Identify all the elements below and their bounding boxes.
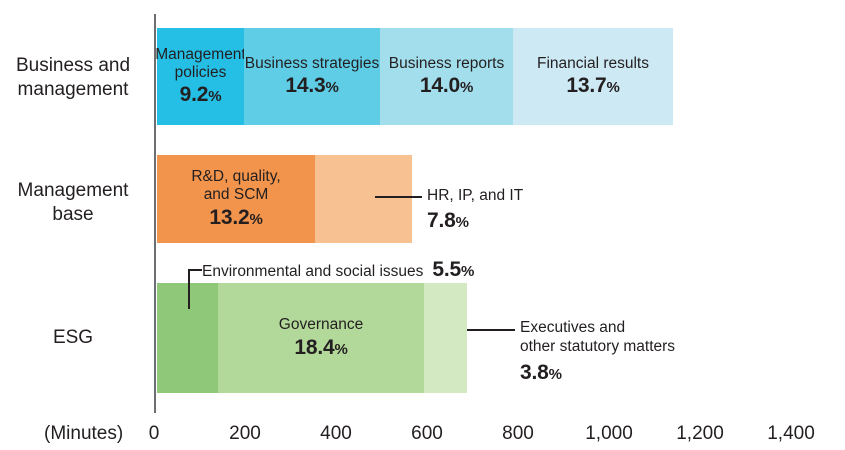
- bar-segment-value: 14.3%: [285, 74, 338, 98]
- bar-segment-value: 14.0%: [420, 74, 473, 98]
- bar-segment-label-line2: and SCM: [204, 186, 269, 203]
- category-label-line1: Business and: [0, 54, 146, 78]
- bar-segment-label: Governance: [276, 316, 366, 334]
- bar-segment-value: 13.7%: [566, 74, 619, 98]
- category-label-management-base: Management base: [0, 179, 146, 228]
- x-axis-tick-0: 0: [149, 423, 160, 445]
- category-label-esg: ESG: [0, 326, 146, 350]
- callout-environmental-and-social-issues: Environmental and social issues 5.5%: [202, 258, 474, 282]
- x-axis-tick-1200: 1,200: [676, 423, 724, 445]
- bar-segment-business-strategies[interactable]: Business strategies 14.3%: [244, 28, 380, 125]
- bar-segment-label: R&D, quality, and SCM: [188, 168, 283, 204]
- callout-text-line1: Executives and: [520, 318, 675, 337]
- x-axis-unit-label: (Minutes): [44, 423, 123, 445]
- bar-segment-rnd-quality-scm[interactable]: R&D, quality, and SCM 13.2%: [157, 155, 315, 243]
- category-label-line1: Management: [0, 179, 146, 203]
- bar-segment-label: Business reports: [386, 55, 507, 73]
- bar-segment-label-line1: Management: [155, 46, 245, 63]
- bar-row-management-base: R&D, quality, and SCM 13.2%: [157, 155, 412, 243]
- bar-segment-executives-and-other-statutory-matters[interactable]: [424, 283, 467, 393]
- callout-value: 5.5%: [432, 258, 474, 282]
- bar-row-business-and-management: Management policies 9.2% Business strate…: [157, 28, 673, 125]
- callout-value: 7.8%: [427, 209, 523, 233]
- stacked-bar-chart: Business and management Management polic…: [0, 0, 845, 450]
- callout-value: 3.8%: [520, 361, 675, 385]
- category-label-line2: base: [0, 203, 146, 227]
- bar-segment-management-policies[interactable]: Management policies 9.2%: [157, 28, 244, 125]
- leader-line-hr-ip-it: [375, 196, 422, 198]
- category-label-line1: ESG: [0, 326, 146, 350]
- x-axis-tick-1000: 1,000: [585, 423, 633, 445]
- callout-hr-ip-it: HR, IP, and IT 7.8%: [427, 186, 523, 233]
- x-axis: (Minutes) 0 200 400 600 800 1,000 1,200 …: [0, 413, 845, 450]
- bar-segment-label: Business strategies: [242, 55, 382, 73]
- bar-segment-value: 13.2%: [209, 206, 262, 230]
- x-axis-tick-400: 400: [320, 423, 352, 445]
- bar-segment-value: 18.4%: [294, 336, 347, 360]
- bar-segment-governance[interactable]: Governance 18.4%: [218, 283, 424, 393]
- leader-line-environmental-vertical: [188, 269, 190, 309]
- callout-text: HR, IP, and IT: [427, 186, 523, 205]
- bar-segment-label: Management policies: [152, 46, 248, 82]
- bar-segment-hr-ip-it[interactable]: [315, 155, 412, 243]
- category-label-business-and-management: Business and management: [0, 54, 146, 103]
- callout-executives-and-other-statutory-matters: Executives and other statutory matters 3…: [520, 318, 675, 385]
- callout-text: Environmental and social issues: [202, 262, 423, 281]
- x-axis-tick-600: 600: [411, 423, 443, 445]
- leader-line-environmental-horizontal: [188, 269, 202, 271]
- bar-segment-label-line1: R&D, quality,: [191, 168, 280, 185]
- leader-line-executives: [467, 329, 515, 331]
- bar-segment-value: 9.2%: [180, 83, 222, 107]
- category-label-line2: management: [0, 78, 146, 102]
- callout-text-line2: other statutory matters: [520, 337, 675, 356]
- x-axis-tick-800: 800: [502, 423, 534, 445]
- bar-segment-label: Financial results: [534, 55, 652, 73]
- bar-segment-business-reports[interactable]: Business reports 14.0%: [380, 28, 513, 125]
- x-axis-tick-1400: 1,400: [767, 423, 815, 445]
- bar-segment-financial-results[interactable]: Financial results 13.7%: [513, 28, 673, 125]
- x-axis-tick-200: 200: [229, 423, 261, 445]
- bar-row-esg: Governance 18.4%: [157, 283, 467, 393]
- bar-segment-label-line2: policies: [175, 64, 227, 81]
